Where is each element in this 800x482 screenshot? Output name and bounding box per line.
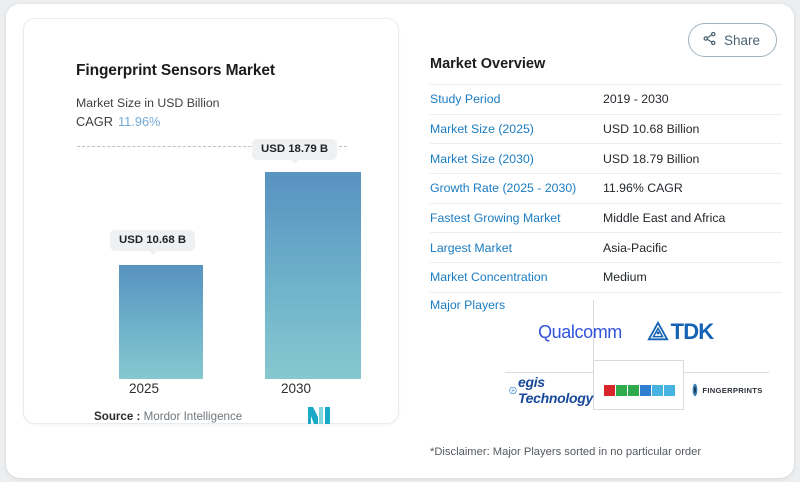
chart-source: Source : Mordor Intelligence xyxy=(94,410,242,423)
row-key: Growth Rate (2025 - 2030) xyxy=(430,181,603,195)
vkansee-mark-icon xyxy=(604,385,675,396)
source-label: Source : xyxy=(94,410,140,423)
table-row: Market Size (2025) USD 10.68 Billion xyxy=(430,115,782,145)
table-row: Growth Rate (2025 - 2030) 11.96% CAGR xyxy=(430,174,782,204)
bar-2030 xyxy=(265,172,361,379)
table-row: Market Concentration Medium xyxy=(430,263,782,293)
market-overview-title: Market Overview xyxy=(430,56,545,72)
share-network-icon xyxy=(702,31,717,49)
table-row: Study Period 2019 - 2030 xyxy=(430,84,782,115)
share-button-label: Share xyxy=(724,33,760,48)
bar-label-2030: USD 18.79 B xyxy=(252,139,337,160)
fingerprints-logo-text: FINGERPRINTS xyxy=(702,386,762,395)
egis-mark-icon xyxy=(509,382,517,399)
egis-logo-text: egis Technology xyxy=(518,374,593,406)
share-button[interactable]: Share xyxy=(688,23,777,57)
row-key: Largest Market xyxy=(430,241,603,255)
fingerprint-mark-icon xyxy=(691,383,699,397)
mordor-intelligence-logo xyxy=(308,407,332,424)
row-key: Market Size (2025) xyxy=(430,122,603,136)
chart-cagr: CAGR11.96% xyxy=(76,114,160,129)
cagr-label: CAGR xyxy=(76,114,113,129)
row-key: Study Period xyxy=(430,92,603,106)
row-key: Fastest Growing Market xyxy=(430,211,603,225)
chart-title: Fingerprint Sensors Market xyxy=(76,62,275,80)
row-key: Market Size (2030) xyxy=(430,152,603,166)
table-row: Market Size (2030) USD 18.79 Billion xyxy=(430,144,782,174)
row-value: Asia-Pacific xyxy=(603,241,667,255)
major-players-logo-grid: Qualcomm TDK egis Technology VKANSEE xyxy=(505,300,769,408)
chart-plot-area xyxy=(41,129,415,379)
table-row: Largest Market Asia-Pacific xyxy=(430,233,782,263)
row-value: Middle East and Africa xyxy=(603,211,725,225)
row-value: USD 10.68 Billion xyxy=(603,122,699,136)
x-axis-label-2025: 2025 xyxy=(102,381,186,396)
chart-subtitle: Market Size in USD Billion xyxy=(76,96,220,110)
tdk-logo-text: TDK xyxy=(671,319,714,345)
row-value: Medium xyxy=(603,270,647,284)
row-value: 2019 - 2030 xyxy=(603,92,669,106)
table-row: Fastest Growing Market Middle East and A… xyxy=(430,204,782,234)
row-value: USD 18.79 Billion xyxy=(603,152,699,166)
egis-logo: egis Technology xyxy=(509,374,593,406)
page-card: Share Fingerprint Sensors Market Market … xyxy=(6,4,794,478)
tdk-logo: TDK xyxy=(610,312,750,352)
row-key: Market Concentration xyxy=(430,270,603,284)
source-name: Mordor Intelligence xyxy=(144,410,243,423)
disclaimer-text: *Disclaimer: Major Players sorted in no … xyxy=(430,446,701,458)
cagr-value: 11.96% xyxy=(118,114,160,129)
vkansee-logo: VKANSEE xyxy=(597,374,681,406)
bar-2025 xyxy=(119,265,203,379)
x-axis-label-2030: 2030 xyxy=(248,381,344,396)
fingerprints-logo: FINGERPRINTS xyxy=(685,374,769,406)
tdk-mark-icon xyxy=(647,321,669,343)
chart-card: Fingerprint Sensors Market Market Size i… xyxy=(23,18,399,424)
bar-label-2025: USD 10.68 B xyxy=(110,230,195,251)
market-overview-table: Study Period 2019 - 2030 Market Size (20… xyxy=(430,84,782,293)
row-value: 11.96% CAGR xyxy=(603,181,683,195)
major-players-label: Major Players xyxy=(430,298,505,312)
